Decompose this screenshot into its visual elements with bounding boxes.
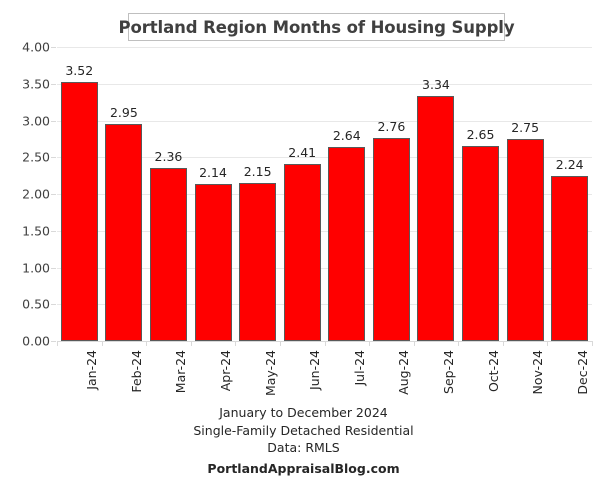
bar-value-label: 2.75: [511, 120, 539, 135]
y-axis-tick-label: 0.00: [22, 334, 50, 349]
y-axis-tick: [51, 268, 56, 269]
x-axis-tick: [325, 341, 326, 346]
x-axis-tick: [235, 341, 236, 346]
bar: [61, 82, 98, 341]
bar-value-label: 2.64: [333, 128, 361, 143]
y-axis-tick-label: 2.50: [22, 150, 50, 165]
bar-value-label: 2.41: [288, 145, 316, 160]
bar-value-label: 2.14: [199, 165, 227, 180]
y-axis-tick-label: 3.50: [22, 76, 50, 91]
y-axis-labels: 0.000.501.001.502.002.503.003.504.00: [7, 47, 50, 341]
y-axis-tick: [51, 304, 56, 305]
y-axis-tick: [51, 231, 56, 232]
bar-value-label: 2.95: [110, 105, 138, 120]
bar: [239, 183, 276, 341]
footer-line-property-type: Single-Family Detached Residential: [0, 422, 607, 440]
footer-line-period: January to December 2024: [0, 404, 607, 422]
x-axis-tick: [458, 341, 459, 346]
x-axis-tick-label: Jul-24: [352, 350, 367, 386]
x-axis-tick: [592, 341, 593, 346]
bar: [284, 164, 321, 341]
y-axis-tick: [51, 194, 56, 195]
x-axis-tick-label: Feb-24: [129, 350, 144, 393]
bar-value-label: 2.76: [377, 119, 405, 134]
footer-line-data-source: Data: RMLS: [0, 439, 607, 457]
x-axis-tick-label: Dec-24: [575, 350, 590, 395]
x-axis-tick: [102, 341, 103, 346]
x-axis-tick-label: Jan-24: [84, 350, 99, 390]
y-axis-tick: [51, 84, 56, 85]
x-axis-tick: [414, 341, 415, 346]
bar: [150, 168, 187, 341]
x-axis-tick-label: Mar-24: [173, 350, 188, 393]
bar: [417, 96, 454, 341]
y-axis-tick-label: 0.50: [22, 297, 50, 312]
y-axis-tick-label: 1.50: [22, 223, 50, 238]
x-axis-tick: [57, 341, 58, 346]
y-axis-tick: [51, 341, 56, 342]
x-axis-tick-label: May-24: [263, 350, 278, 396]
x-axis-tick-label: Apr-24: [218, 350, 233, 391]
chart-footer: January to December 2024 Single-Family D…: [0, 404, 607, 477]
chart-title-box: Portland Region Months of Housing Supply: [128, 13, 505, 41]
x-axis-tick: [369, 341, 370, 346]
y-axis-tick-label: 4.00: [22, 40, 50, 55]
y-axis-tick-label: 3.00: [22, 113, 50, 128]
page-title: Portland Region Months of Housing Supply: [118, 18, 514, 37]
bar-value-label: 3.52: [65, 63, 93, 78]
x-axis-tick-label: Aug-24: [396, 350, 411, 395]
x-axis-tick: [146, 341, 147, 346]
x-axis-tick-label: Nov-24: [530, 350, 545, 394]
bar-value-label: 2.24: [556, 157, 584, 172]
x-axis-tick: [547, 341, 548, 346]
bar: [105, 124, 142, 341]
bar: [328, 147, 365, 341]
bar-value-label: 2.65: [467, 127, 495, 142]
x-axis-tick-label: Oct-24: [486, 350, 501, 392]
bar: [551, 176, 588, 341]
bar-value-label: 3.34: [422, 77, 450, 92]
y-axis-tick: [51, 47, 56, 48]
bar: [195, 184, 232, 341]
x-axis-tick: [280, 341, 281, 346]
footer-line-attribution: PortlandAppraisalBlog.com: [0, 460, 607, 478]
x-axis-tick-label: Jun-24: [307, 350, 322, 390]
bar: [507, 139, 544, 341]
bar: [462, 146, 499, 341]
x-axis-tick: [503, 341, 504, 346]
bars-layer: 3.522.952.362.142.152.412.642.763.342.65…: [57, 47, 592, 341]
y-axis-tick: [51, 157, 56, 158]
y-axis-tick-label: 2.00: [22, 187, 50, 202]
x-axis-tick-label: Sep-24: [441, 350, 456, 394]
bar-value-label: 2.36: [155, 149, 183, 164]
bar-value-label: 2.15: [244, 164, 272, 179]
y-axis-tick-label: 1.00: [22, 260, 50, 275]
y-axis-tick: [51, 121, 56, 122]
bar: [373, 138, 410, 341]
x-axis-tick: [191, 341, 192, 346]
